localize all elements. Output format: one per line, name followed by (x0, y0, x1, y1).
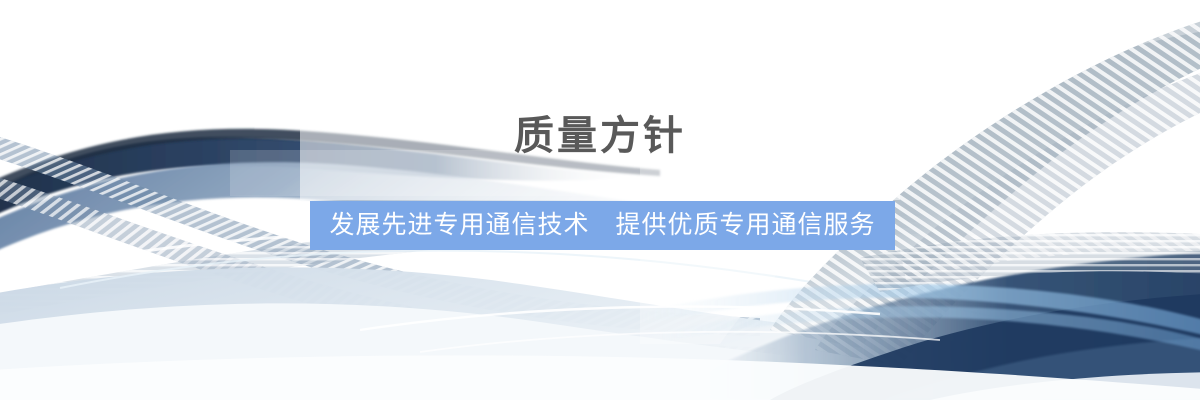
page-title: 质量方针 (0, 112, 1200, 160)
quality-policy-banner: 质量方针 发展先进专用通信技术 提供优质专用通信服务 (0, 0, 1200, 400)
slogan-banner-box: 发展先进专用通信技术 提供优质专用通信服务 (310, 201, 895, 250)
abstract-wave-background (0, 0, 1200, 400)
slogan-text: 发展先进专用通信技术 提供优质专用通信服务 (329, 201, 875, 250)
